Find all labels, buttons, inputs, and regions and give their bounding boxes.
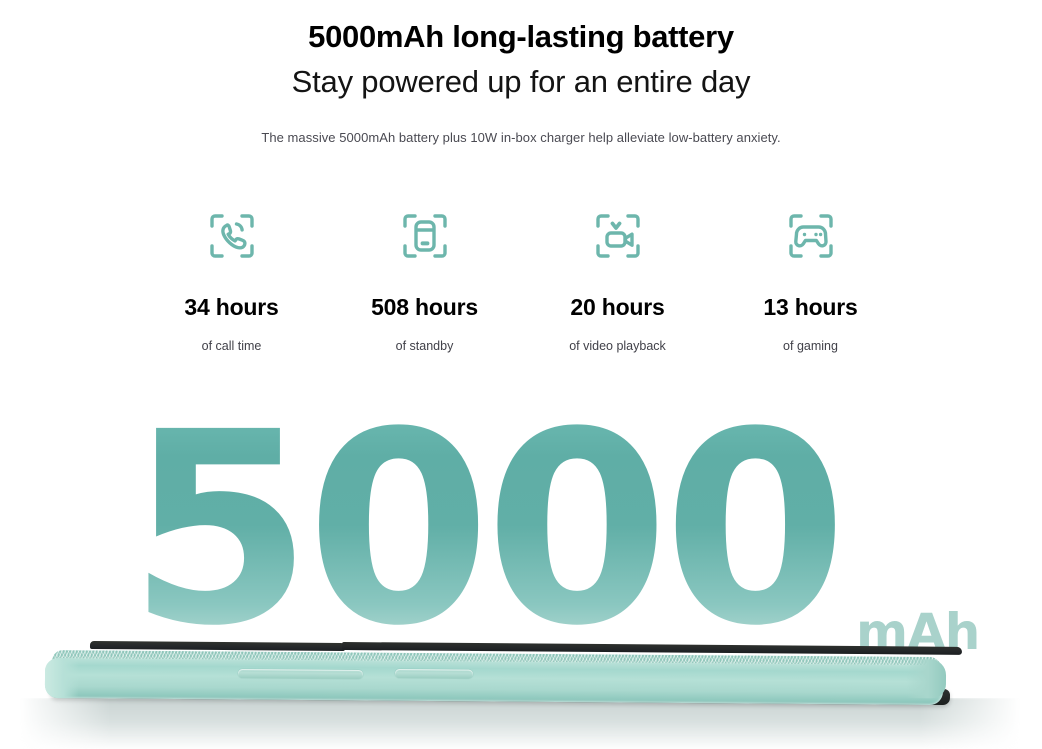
phone-side-frame (45, 658, 943, 705)
page-title: 5000mAh long-lasting battery (0, 18, 1042, 57)
stat-gaming: 13 hours of gaming (714, 200, 907, 353)
stat-value: 34 hours (135, 294, 328, 321)
page-subtitle: Stay powered up for an entire day (0, 62, 1042, 102)
phone-call-scan-icon (196, 200, 268, 272)
stat-value: 508 hours (328, 294, 521, 321)
stat-label: of standby (328, 339, 521, 353)
phone-camera-bump-left (90, 641, 345, 651)
battery-feature-page: 5000mAh long-lasting battery Stay powere… (0, 0, 1042, 749)
stat-video-playback: 20 hours of video playback (521, 200, 714, 353)
phone-volume-button (238, 669, 363, 679)
stat-standby: 508 hours of standby (328, 200, 521, 353)
stat-label: of gaming (714, 339, 907, 353)
stat-value: 13 hours (714, 294, 907, 321)
page-header: 5000mAh long-lasting battery Stay powere… (0, 0, 1042, 145)
page-description: The massive 5000mAh battery plus 10W in-… (0, 130, 1042, 145)
phone-right-edge-highlight (906, 659, 946, 698)
phone-left-edge-highlight (45, 658, 79, 698)
stat-label: of call time (135, 339, 328, 353)
phone-reflection (20, 698, 1020, 749)
hero-capacity-number: 5000 (128, 398, 842, 663)
battery-stats-row: 34 hours of call time 508 hours of stand… (135, 200, 907, 353)
stat-call-time: 34 hours of call time (135, 200, 328, 353)
stat-label: of video playback (521, 339, 714, 353)
video-camera-scan-icon (582, 200, 654, 272)
stat-value: 20 hours (521, 294, 714, 321)
device-standby-scan-icon (389, 200, 461, 272)
phone-power-button (395, 669, 473, 679)
product-phone-image (0, 636, 1042, 749)
gamepad-scan-icon (775, 200, 847, 272)
